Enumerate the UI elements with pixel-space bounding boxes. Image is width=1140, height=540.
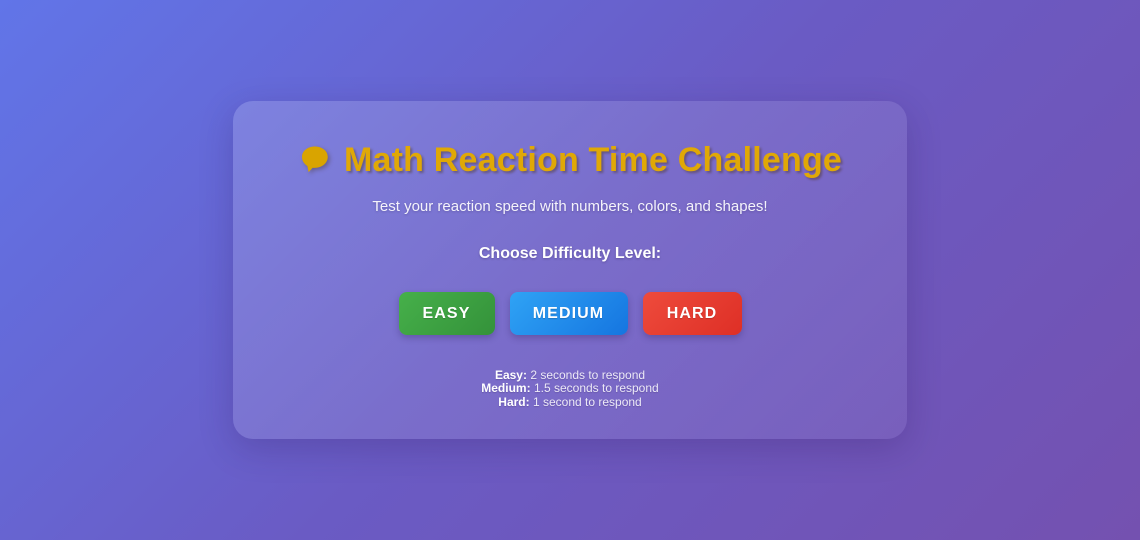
difficulty-info-medium-text: 1.5 seconds to respond (534, 381, 659, 395)
difficulty-button-medium[interactable]: MEDIUM (510, 292, 628, 335)
page-title: Math Reaction Time Challenge (344, 141, 842, 180)
difficulty-info-hard: Hard: 1 second to respond (273, 396, 867, 410)
difficulty-info-hard-text: 1 second to respond (533, 395, 642, 409)
difficulty-info-easy-text: 2 seconds to respond (530, 368, 645, 382)
difficulty-button-row: EASY MEDIUM HARD (273, 292, 867, 335)
difficulty-button-easy[interactable]: EASY (399, 292, 495, 335)
brain-icon (298, 143, 332, 177)
difficulty-prompt: Choose Difficulty Level: (273, 245, 867, 263)
page-subtitle: Test your reaction speed with numbers, c… (273, 198, 867, 215)
difficulty-button-hard[interactable]: HARD (643, 292, 742, 335)
difficulty-info-medium: Medium: 1.5 seconds to respond (273, 382, 867, 396)
difficulty-info-block: Easy: 2 seconds to respond Medium: 1.5 s… (273, 369, 867, 410)
difficulty-info-easy-label: Easy: (495, 368, 527, 382)
difficulty-info-medium-label: Medium: (481, 381, 530, 395)
title-row: Math Reaction Time Challenge (273, 141, 867, 180)
difficulty-info-hard-label: Hard: (498, 395, 529, 409)
difficulty-selection-card: Math Reaction Time Challenge Test your r… (233, 101, 907, 440)
difficulty-info-easy: Easy: 2 seconds to respond (273, 369, 867, 383)
